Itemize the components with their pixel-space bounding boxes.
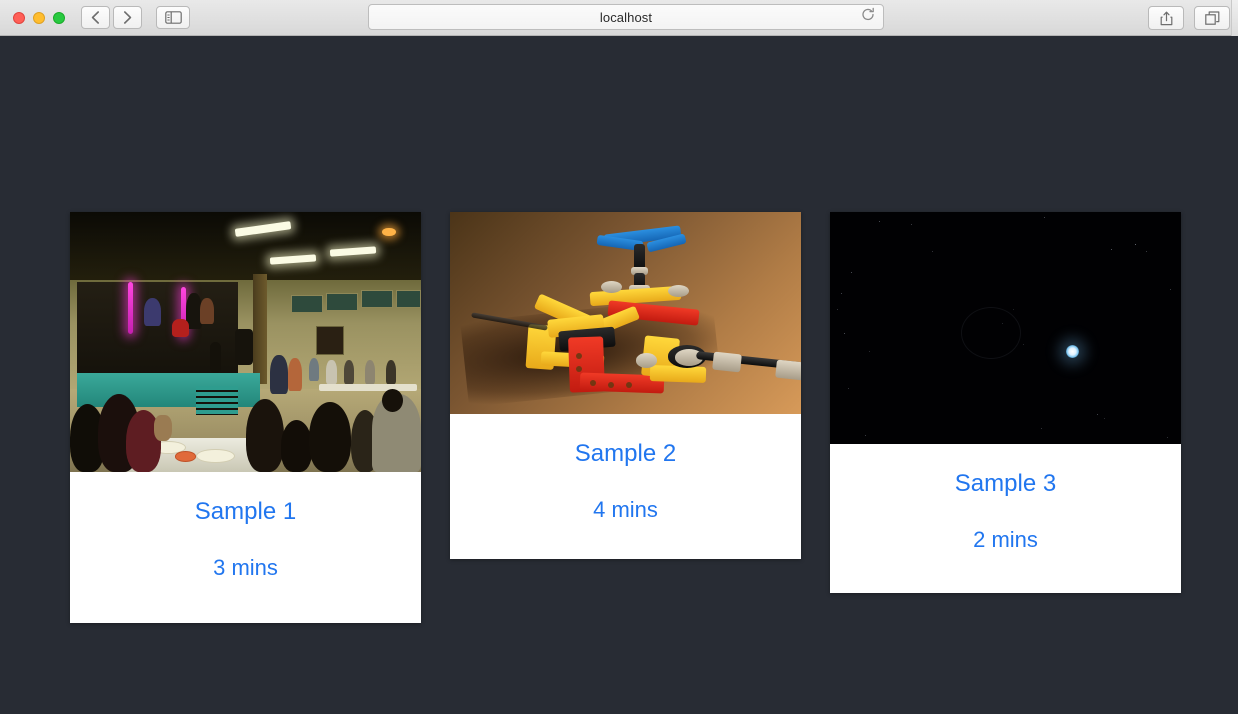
share-icon [1160, 11, 1173, 26]
card-title[interactable]: Sample 3 [840, 470, 1171, 499]
audience-head [246, 399, 285, 472]
yellow-beam [650, 365, 707, 383]
wall-window [396, 290, 421, 308]
card-title[interactable]: Sample 1 [80, 498, 411, 527]
browser-window: localhost [0, 0, 1238, 714]
tabs-icon [1205, 11, 1220, 26]
chevron-left-icon [91, 11, 100, 24]
star [1135, 244, 1136, 245]
pin-connector [636, 353, 657, 367]
star [1044, 217, 1045, 218]
video-card[interactable]: Sample 1 3 mins [70, 212, 421, 623]
speaker-stack [210, 342, 221, 373]
close-window-button[interactable] [13, 12, 25, 24]
card-duration[interactable]: 3 mins [80, 555, 411, 581]
wall-window [326, 293, 358, 311]
address-bar[interactable]: localhost [368, 4, 884, 30]
share-button[interactable] [1148, 6, 1184, 30]
star [1013, 309, 1014, 310]
forward-button[interactable] [113, 6, 142, 29]
sidebar-icon [165, 11, 182, 24]
chevron-right-icon [123, 11, 132, 24]
star [844, 333, 845, 334]
wall-window [361, 290, 393, 308]
star [1167, 437, 1168, 438]
video-card[interactable]: Sample 3 2 mins [830, 212, 1181, 593]
url-text: localhost [600, 10, 652, 25]
beam-hole [626, 382, 632, 388]
video-card[interactable]: Sample 2 4 mins [450, 212, 801, 559]
window-controls [13, 12, 65, 24]
star [851, 272, 852, 273]
star [841, 293, 842, 294]
card-duration[interactable]: 4 mins [460, 497, 791, 523]
tab-overview-button[interactable] [1194, 6, 1230, 30]
seated-person [365, 360, 376, 383]
night-sky-star-thumbnail[interactable] [830, 212, 1181, 444]
raised-hand [154, 415, 172, 441]
window-right-edge [1231, 0, 1238, 36]
card-body: Sample 1 3 mins [70, 472, 421, 623]
magenta-light-tube [128, 282, 133, 334]
walking-person [288, 358, 302, 392]
lego-technic-model-thumbnail[interactable] [450, 212, 801, 414]
card-duration[interactable]: 2 mins [840, 527, 1171, 553]
stage-person [144, 298, 162, 327]
toolbar-right-buttons [1148, 6, 1230, 30]
axle-sleeve [776, 360, 801, 381]
video-card-grid: Sample 1 3 mins [70, 212, 1182, 623]
star [869, 351, 870, 352]
indoor-event-stage-thumbnail[interactable] [70, 212, 421, 472]
star [1111, 249, 1112, 250]
star [837, 309, 838, 310]
audience-head [309, 402, 351, 472]
star [911, 224, 912, 225]
audience-head [281, 420, 313, 472]
stage-steps [196, 386, 238, 415]
card-title[interactable]: Sample 2 [460, 440, 791, 469]
card-body: Sample 2 4 mins [450, 414, 801, 559]
back-button[interactable] [81, 6, 110, 29]
walking-person [270, 355, 288, 394]
star [1104, 418, 1105, 419]
stage-person [200, 298, 214, 324]
star [879, 221, 880, 222]
sidebar-toggle-button[interactable] [156, 6, 190, 29]
reload-icon [861, 8, 875, 22]
support-beam [253, 274, 267, 383]
seated-person [344, 360, 355, 383]
food-item [175, 451, 196, 461]
plate [196, 449, 235, 463]
star [1170, 289, 1171, 290]
maximize-window-button[interactable] [53, 12, 65, 24]
seated-person [309, 358, 320, 381]
star [932, 251, 933, 252]
address-bar-container: localhost [368, 4, 884, 30]
star [1146, 251, 1147, 252]
axle-sleeve [712, 352, 742, 373]
star [1097, 414, 1098, 415]
seated-person [386, 360, 397, 383]
stage-prop [172, 319, 190, 337]
star [848, 388, 849, 389]
card-body: Sample 3 2 mins [830, 444, 1181, 593]
pin-connector [668, 285, 689, 297]
navigation-buttons [81, 6, 142, 29]
page-content: Sample 1 3 mins [0, 36, 1238, 714]
bright-star [1066, 345, 1079, 358]
reload-button[interactable] [861, 8, 875, 27]
minimize-window-button[interactable] [33, 12, 45, 24]
beam-hole [576, 366, 582, 372]
star [865, 435, 866, 436]
doorway [316, 326, 344, 355]
faint-halo [961, 307, 1021, 359]
browser-toolbar: localhost [0, 0, 1238, 36]
star [1041, 428, 1042, 429]
seated-person [326, 360, 337, 383]
wall-window [291, 295, 323, 313]
background-table [319, 384, 417, 392]
pin-connector [601, 281, 622, 293]
speaker-stack [235, 329, 253, 365]
beam-hole [608, 382, 614, 388]
star [1023, 344, 1024, 345]
